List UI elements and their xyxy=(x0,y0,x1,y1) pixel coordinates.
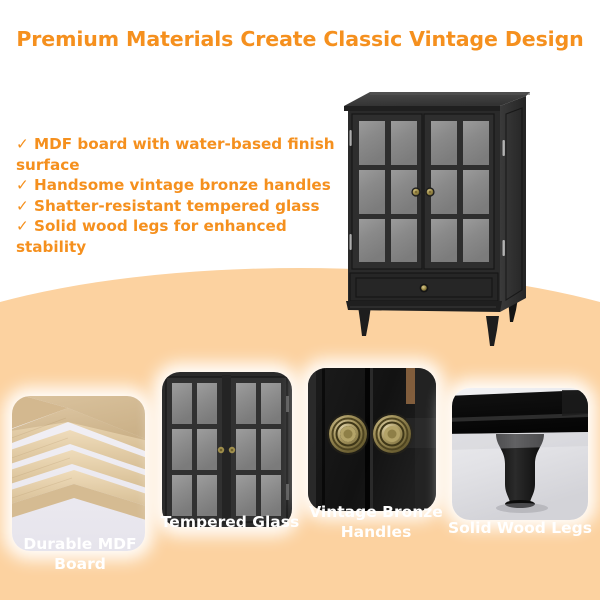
check-icon: ✓ xyxy=(16,197,29,215)
cabinet-glass-doors xyxy=(350,114,495,269)
feature-card-durable-mdf-board[interactable] xyxy=(12,396,145,551)
page-title: Premium Materials Create Classic Vintage… xyxy=(0,27,600,51)
bronze-knob-left xyxy=(327,413,369,455)
feature-card-row: Durable MDF Board xyxy=(0,362,600,600)
bullet-item-4-label: Solid wood legs for enhanced stability xyxy=(16,217,287,256)
check-icon: ✓ xyxy=(16,135,29,153)
feature-card-label-vintage-bronze-handles: Vintage Bronze Handles xyxy=(296,502,456,542)
bullet-item-1: ✓ MDF board with water-based finish surf… xyxy=(16,134,346,175)
bullet-item-3: ✓ Shatter-resistant tempered glass xyxy=(16,196,346,217)
bullet-item-3-label: Shatter-resistant tempered glass xyxy=(34,197,319,215)
bullet-item-2: ✓ Handsome vintage bronze handles xyxy=(16,175,346,196)
product-feature-infographic: Premium Materials Create Classic Vintage… xyxy=(0,0,600,600)
bullet-item-4: ✓ Solid wood legs for enhanced stability xyxy=(16,216,346,257)
check-icon: ✓ xyxy=(16,217,29,235)
feature-bullet-list: ✓ MDF board with water-based finish surf… xyxy=(16,134,346,257)
product-image-cabinet xyxy=(340,84,540,354)
bronze-knob-right xyxy=(371,413,413,455)
feature-card-vintage-bronze-handles[interactable] xyxy=(308,368,436,511)
bullet-item-1-label: MDF board with water-based finish surfac… xyxy=(16,135,335,174)
feature-card-label-solid-wood-legs: Solid Wood Legs xyxy=(440,518,600,538)
cabinet-drawer xyxy=(350,273,498,301)
check-icon: ✓ xyxy=(16,176,29,194)
feature-card-label-durable-mdf-board: Durable MDF Board xyxy=(0,534,160,574)
feature-card-label-tempered-glass: Tempered Glass xyxy=(155,512,305,532)
feature-card-solid-wood-legs[interactable] xyxy=(452,388,588,520)
bullet-item-2-label: Handsome vintage bronze handles xyxy=(34,176,331,194)
feature-card-tempered-glass[interactable] xyxy=(162,372,292,527)
